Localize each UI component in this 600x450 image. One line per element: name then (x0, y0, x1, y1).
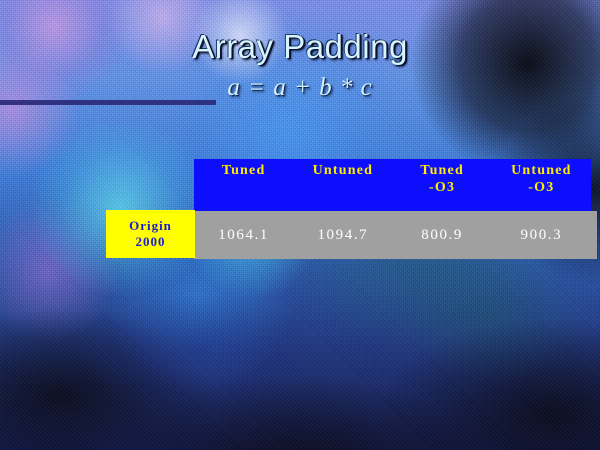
row-label-line1: Origin (129, 218, 172, 234)
table-column-header-untuned-o3: Untuned -O3 (492, 159, 591, 211)
table-row: 1064.1 1094.7 800.9 900.3 (194, 211, 597, 259)
title-divider-rule (0, 100, 216, 105)
formula-subtitle: a = a + b * c (0, 74, 600, 102)
table-cell-untuned: 1094.7 (293, 211, 392, 259)
row-label-line2: 2000 (136, 234, 166, 250)
header-label-line2: -O3 (528, 179, 554, 196)
table-cell-tuned-o3: 800.9 (393, 211, 492, 259)
table-column-header-tuned: Tuned (194, 159, 293, 211)
table-header-row: Tuned Untuned Tuned -O3 Untuned -O3 (194, 159, 591, 211)
slide: Array Padding a = a + b * c Tuned Untune… (0, 0, 600, 450)
header-label-line1: Tuned (420, 162, 464, 179)
page-title: Array Padding (0, 28, 600, 66)
header-label-line1: Untuned (313, 162, 374, 179)
table-column-header-untuned: Untuned (293, 159, 392, 211)
header-label-line1: Untuned (511, 162, 572, 179)
results-table: Tuned Untuned Tuned -O3 Untuned -O3 1064… (106, 159, 509, 259)
table-column-header-tuned-o3: Tuned -O3 (393, 159, 492, 211)
table-row-label-origin-2000: Origin 2000 (106, 210, 195, 258)
table-cell-untuned-o3: 900.3 (492, 211, 597, 259)
header-label-line2: -O3 (429, 179, 455, 196)
table-cell-tuned: 1064.1 (194, 211, 293, 259)
header-label-line1: Tuned (222, 162, 266, 179)
